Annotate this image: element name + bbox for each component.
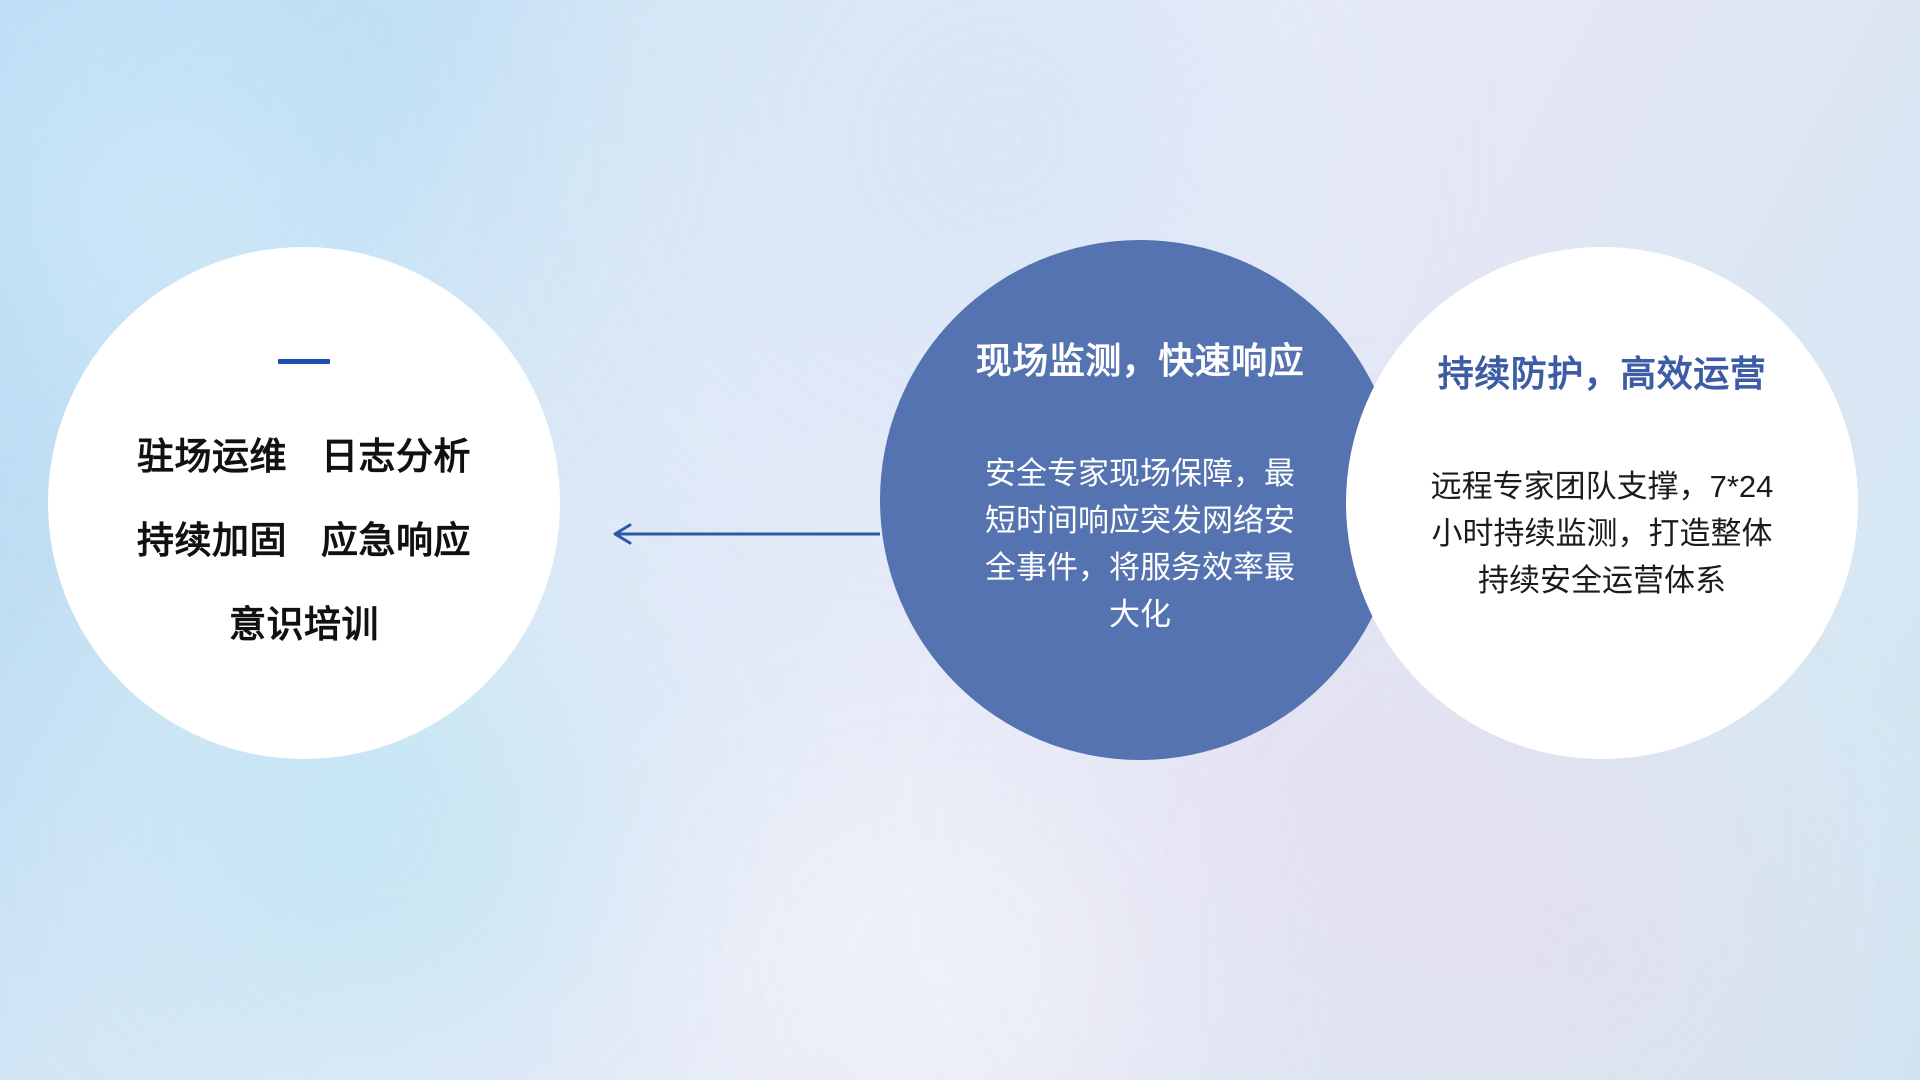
onsite-monitoring-title: 现场监测，快速响应 (976, 332, 1305, 384)
slide-canvas: 驻场运维 日志分析 持续加固 应急响应 意识培训 现场监测，快速响应 安全专家现… (0, 0, 1920, 1080)
capability-tag-row: 持续加固 应急响应 (137, 510, 471, 564)
left-arrow-icon (600, 522, 880, 546)
onsite-monitoring-body: 安全专家现场保障，最短时间响应突发网络安全事件，将服务效率最大化 (985, 450, 1295, 638)
onsite-monitoring-circle[interactable]: 现场监测，快速响应 安全专家现场保障，最短时间响应突发网络安全事件，将服务效率最… (880, 240, 1400, 760)
capability-tag-row: 意识培训 (229, 594, 379, 648)
continuous-protection-body: 远程专家团队支撑，7*24小时持续监测，打造整体持续安全运营体系 (1427, 463, 1777, 604)
capability-tag: 应急响应 (321, 510, 471, 564)
capability-tag: 驻场运维 (137, 426, 287, 480)
accent-rule-divider (278, 359, 330, 364)
continuous-protection-title: 持续防护，高效运营 (1438, 345, 1767, 397)
capability-tag: 意识培训 (229, 594, 379, 648)
capability-tag: 持续加固 (137, 510, 287, 564)
capability-tag-list: 驻场运维 日志分析 持续加固 应急响应 意识培训 (137, 426, 471, 648)
continuous-protection-circle[interactable]: 持续防护，高效运营 远程专家团队支撑，7*24小时持续监测，打造整体持续安全运营… (1346, 247, 1858, 759)
capabilities-circle[interactable]: 驻场运维 日志分析 持续加固 应急响应 意识培训 (48, 247, 560, 759)
connector-arrow (600, 522, 880, 546)
capability-tag-row: 驻场运维 日志分析 (137, 426, 471, 480)
capability-tag: 日志分析 (321, 426, 471, 480)
